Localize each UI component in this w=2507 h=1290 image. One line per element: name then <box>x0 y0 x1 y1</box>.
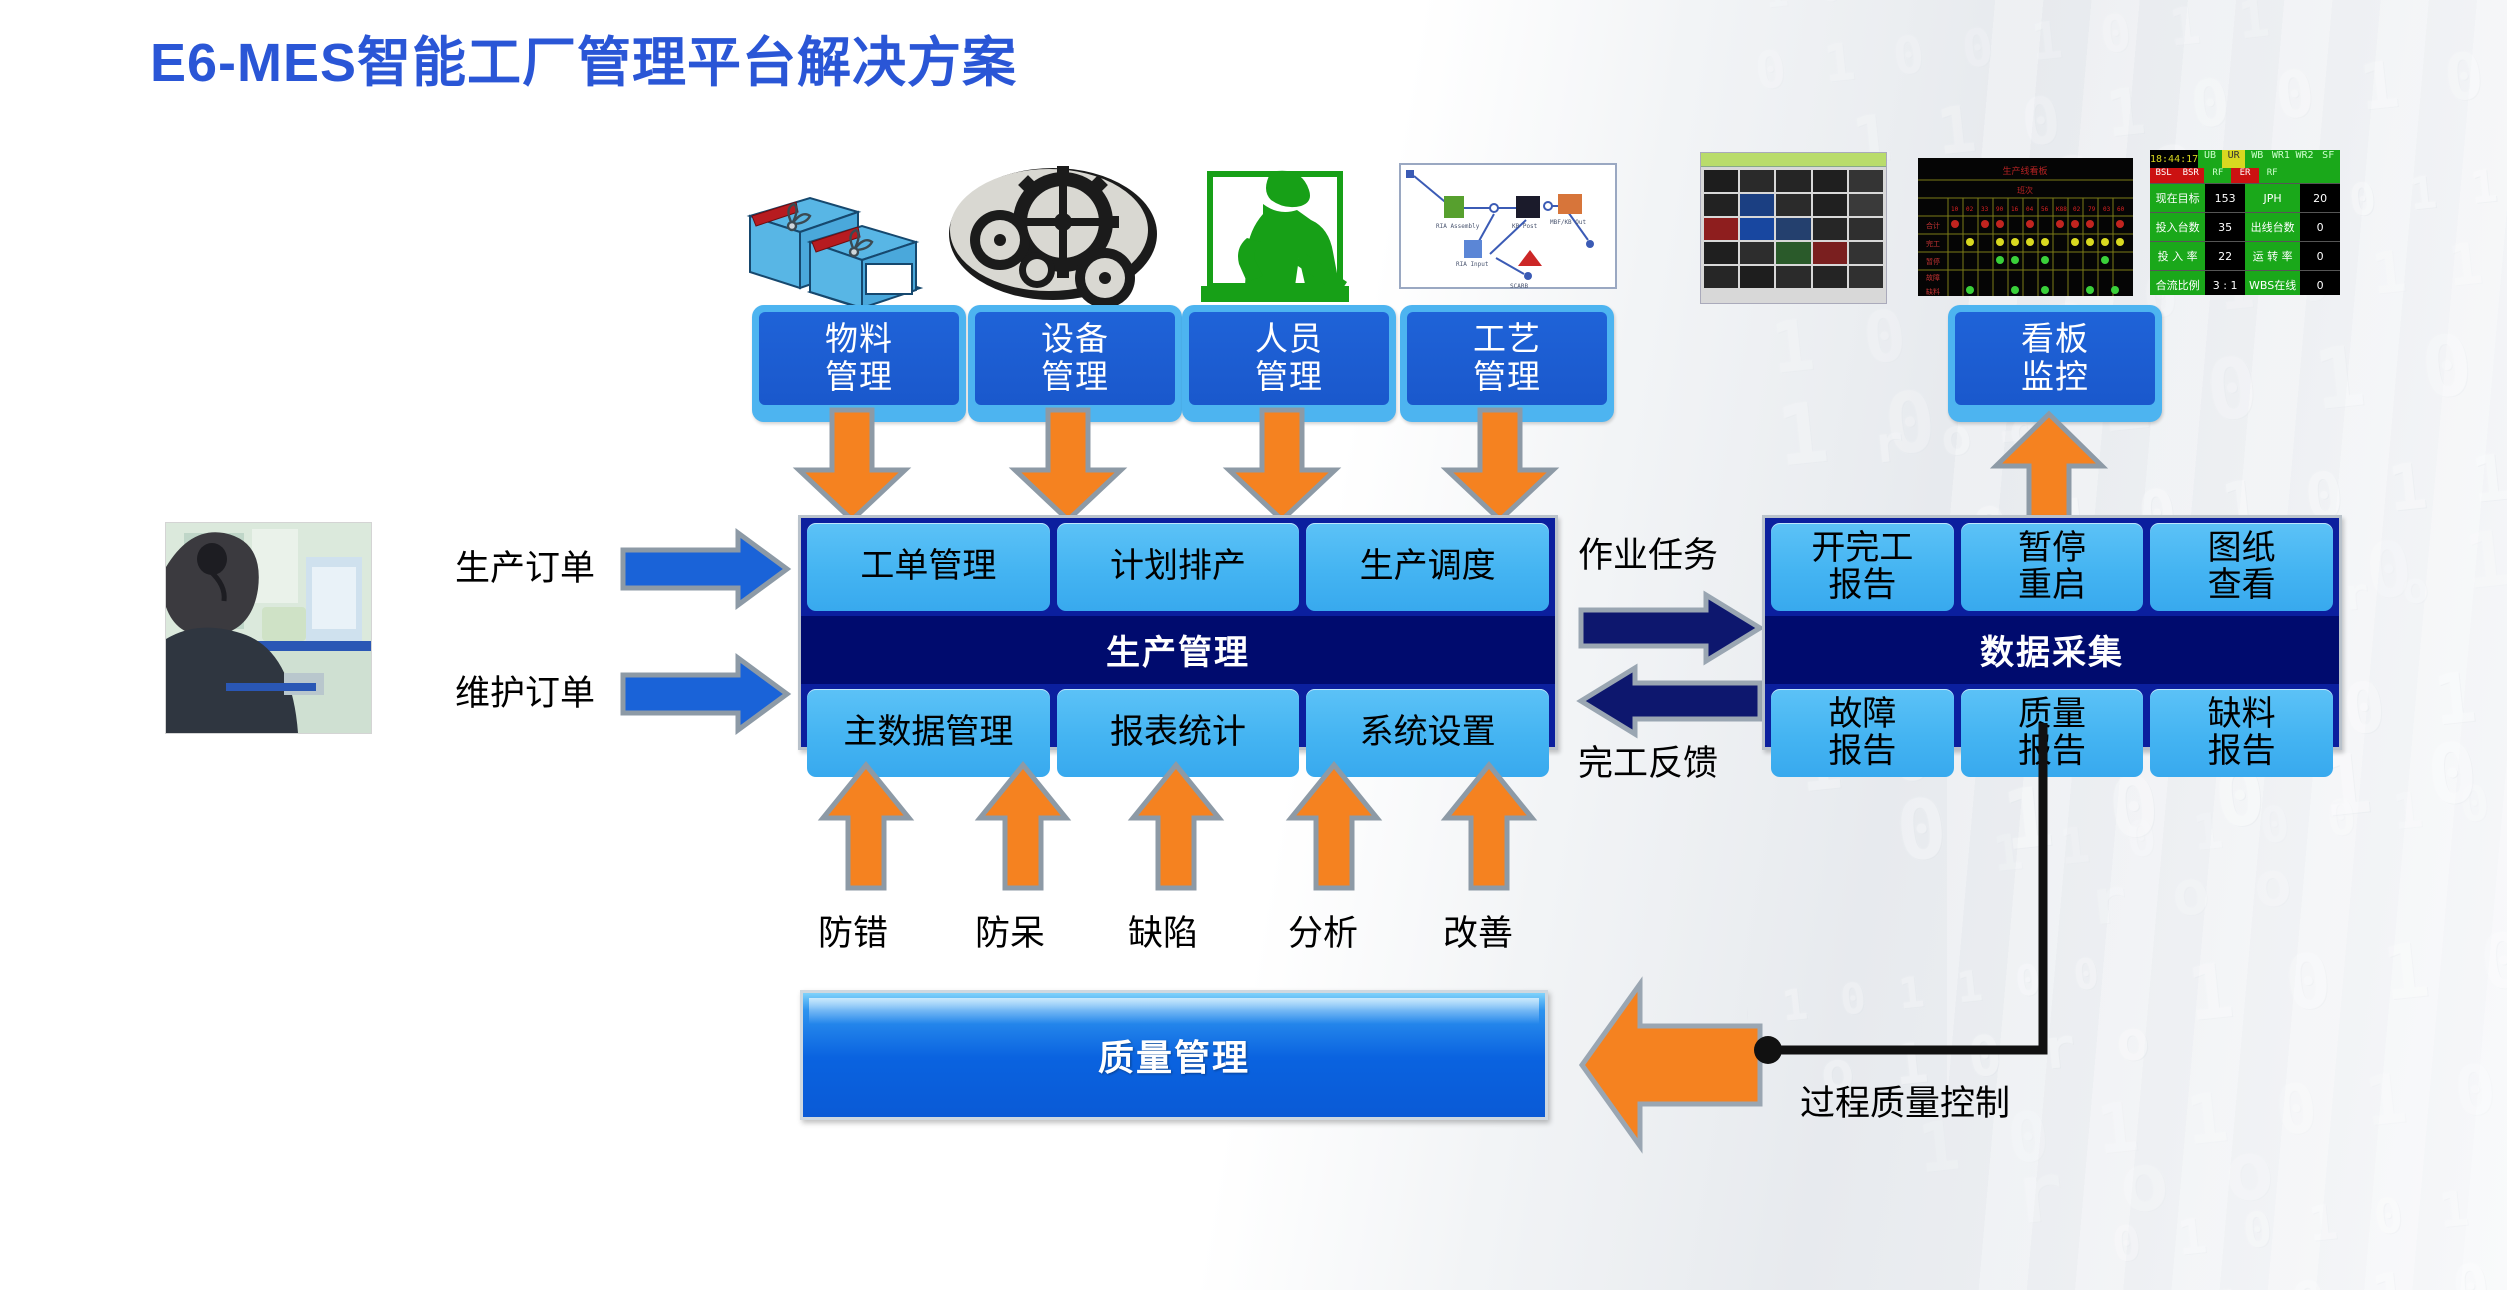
module-label-line1: 设备 <box>979 320 1171 358</box>
module-card-kanban[interactable]: 看板 监控 <box>1948 305 2162 422</box>
module-label-line2: 管理 <box>1411 358 1603 396</box>
cell-work-order[interactable]: 工单管理 <box>807 523 1050 611</box>
driver-label-1: 防呆 <box>975 905 1045 956</box>
module-card-equipment-label: 设备 管理 <box>975 312 1175 405</box>
watermark-digit-line: o r o r o <box>1747 1281 2185 1290</box>
gears-icon <box>945 160 1160 305</box>
data-band-label: 数据采集 <box>1765 616 2339 684</box>
module-label-line2: 管理 <box>1193 358 1385 396</box>
kpi-dashboard-monitor: 18:44:17 UB UR WB WR1 WR2 SF BSL BSR RF … <box>2150 150 2340 295</box>
down-arrow-equipment <box>1011 408 1125 522</box>
packages-icon <box>740 168 930 308</box>
kpi-label-right: WBS在线 <box>2245 271 2300 295</box>
svg-text:10: 10 <box>1951 206 1959 213</box>
module-label-line1: 物料 <box>763 320 955 358</box>
kpi-value-left: 35 <box>2205 213 2245 241</box>
kpi-row: 合流比例3 : 1WBS在线0 <box>2150 270 2340 295</box>
up-arrow-driver-2 <box>1130 762 1222 892</box>
module-card-material[interactable]: 物料 管理 <box>752 305 966 422</box>
svg-text:班次: 班次 <box>2017 185 2033 195</box>
driver-label-0: 防错 <box>818 905 888 956</box>
cell-pause-restart[interactable]: 暂停 重启 <box>1961 523 2144 611</box>
kpi-clock: 18:44:17 <box>2150 150 2198 168</box>
kpi-label-left: 投 入 率 <box>2150 242 2205 270</box>
exchange-label-task: 作业任务 <box>1578 527 1718 578</box>
svg-text:60: 60 <box>2117 206 2125 213</box>
module-card-process[interactable]: 工艺 管理 <box>1400 305 1614 422</box>
up-arrow-driver-4 <box>1443 762 1535 892</box>
cell-line2: 查看 <box>2208 567 2276 604</box>
down-arrow-material <box>795 408 909 522</box>
kpi-row: 投 入 率22运 转 率0 <box>2150 241 2340 270</box>
right-arrow-task <box>1578 592 1763 664</box>
kpi-value-right: 20 <box>2300 184 2340 212</box>
svg-text:RIA Assembly: RIA Assembly <box>1436 223 1480 230</box>
operator-photo <box>165 522 372 734</box>
kpi-value-right: 0 <box>2300 271 2340 295</box>
svg-text:02: 02 <box>1966 206 1974 213</box>
module-label-line1: 工艺 <box>1411 320 1603 358</box>
svg-text:完工: 完工 <box>1926 239 1940 248</box>
cell-shortage-report[interactable]: 缺料 报告 <box>2150 689 2333 777</box>
cell-plan-schedule[interactable]: 计划排产 <box>1057 523 1300 611</box>
module-label-line2: 管理 <box>763 358 955 396</box>
order-label-production: 生产订单 <box>455 540 595 591</box>
cell-line1: 暂停 <box>2018 530 2086 567</box>
right-arrow-production-order <box>620 530 790 608</box>
cell-production-dispatch[interactable]: 生产调度 <box>1306 523 1549 611</box>
svg-text:16: 16 <box>2011 206 2019 213</box>
module-label-line1: 看板 <box>1959 320 2151 358</box>
module-label-line2: 管理 <box>979 358 1171 396</box>
production-band-label: 生产管理 <box>801 616 1555 684</box>
driver-label-4: 改善 <box>1443 905 1513 956</box>
svg-text:生产线看板: 生产线看板 <box>2002 165 2047 177</box>
svg-text:KB Post: KB Post <box>1512 223 1538 230</box>
led-matrix-monitor: 生产线看板 班次 合计完工暂停 故障缺料 10023390 160456K88 … <box>1918 158 2133 296</box>
svg-text:02: 02 <box>2073 206 2081 213</box>
cell-line1: 图纸 <box>2208 530 2276 567</box>
data-collection-panel: 开完工 报告 暂停 重启 图纸 查看 数据采集 故障 报告 质量 <box>1762 515 2342 750</box>
module-card-equipment[interactable]: 设备 管理 <box>968 305 1182 422</box>
module-card-material-label: 物料 管理 <box>759 312 959 405</box>
svg-text:03: 03 <box>2103 206 2111 213</box>
module-card-personnel-label: 人员 管理 <box>1189 312 1389 405</box>
process-flow-icon: RIA Assembly KB Post MBF/KB Out RIA Inpu… <box>1398 162 1618 297</box>
kpi-label-right: 出线台数 <box>2245 213 2300 241</box>
kpi-label-right: 运 转 率 <box>2245 242 2300 270</box>
process-quality-control-label: 过程质量控制 <box>1800 1075 2010 1126</box>
kpi-label-left: 现在目标 <box>2150 184 2205 212</box>
kpi-label-right: JPH <box>2245 184 2300 212</box>
svg-text:合计: 合计 <box>1926 221 1940 230</box>
kpi-value-right: 0 <box>2300 213 2340 241</box>
vehicle-list-monitor <box>1700 152 1887 304</box>
page-title: E6-MES智能工厂管理平台解决方案 <box>150 18 1017 97</box>
down-arrow-personnel <box>1225 408 1339 522</box>
up-arrow-driver-0 <box>820 762 912 892</box>
kpi-value-right: 0 <box>2300 242 2340 270</box>
kpi-value-left: 3 : 1 <box>2205 271 2245 295</box>
svg-text:56: 56 <box>2041 206 2049 213</box>
data-top-row: 开完工 报告 暂停 重启 图纸 查看 <box>1765 518 2339 616</box>
up-arrow-driver-1 <box>977 762 1069 892</box>
cell-line1: 缺料 <box>2208 696 2276 733</box>
svg-text:33: 33 <box>1981 206 1989 213</box>
svg-text:79: 79 <box>2088 206 2096 213</box>
down-arrow-process <box>1443 408 1557 522</box>
module-label-line1: 人员 <box>1193 320 1385 358</box>
kpi-label-left: 投入台数 <box>2150 213 2205 241</box>
up-arrow-kanban <box>1992 410 2106 530</box>
svg-text:暂停: 暂停 <box>1926 257 1940 266</box>
module-label-line2: 监控 <box>1959 358 2151 396</box>
module-card-process-label: 工艺 管理 <box>1407 312 1607 405</box>
cell-line2: 报告 <box>1811 567 1913 604</box>
svg-text:RIA Input: RIA Input <box>1456 261 1489 268</box>
cell-drawing-view[interactable]: 图纸 查看 <box>2150 523 2333 611</box>
cell-start-finish-report[interactable]: 开完工 报告 <box>1771 523 1954 611</box>
svg-text:MBF/KB Out: MBF/KB Out <box>1550 219 1587 226</box>
process-quality-connector <box>1700 720 2120 1120</box>
cell-line1: 开完工 <box>1811 530 1913 567</box>
exchange-label-feedback: 完工反馈 <box>1578 735 1718 786</box>
kpi-row: 投入台数35出线台数0 <box>2150 212 2340 241</box>
svg-text:缺料: 缺料 <box>1926 287 1940 296</box>
kpi-value-left: 153 <box>2205 184 2245 212</box>
cell-line2: 报告 <box>2208 733 2276 770</box>
svg-text:K88: K88 <box>2056 206 2067 213</box>
svg-text:90: 90 <box>1996 206 2004 213</box>
kpi-label-left: 合流比例 <box>2150 271 2205 295</box>
driver-label-3: 分析 <box>1288 905 1358 956</box>
right-arrow-maintenance-order <box>620 655 790 733</box>
quality-management-bar[interactable]: 质量管理 <box>800 990 1548 1120</box>
cell-line2: 重启 <box>2018 567 2086 604</box>
order-label-maintenance: 维护订单 <box>455 665 595 716</box>
driver-label-2: 缺陷 <box>1128 905 1198 956</box>
module-card-kanban-label: 看板 监控 <box>1955 312 2155 405</box>
svg-text:04: 04 <box>2026 206 2034 213</box>
svg-text:故障: 故障 <box>1926 273 1940 282</box>
worker-icon <box>1185 160 1365 302</box>
production-top-row: 工单管理 计划排产 生产调度 <box>801 518 1555 616</box>
kpi-row: 现在目标153JPH20 <box>2150 183 2340 212</box>
production-management-panel: 工单管理 计划排产 生产调度 生产管理 主数据管理 报表统计 系统设置 <box>798 515 1558 750</box>
module-card-personnel[interactable]: 人员 管理 <box>1182 305 1396 422</box>
quality-management-label: 质量管理 <box>1098 1029 1250 1081</box>
kpi-value-left: 22 <box>2205 242 2245 270</box>
svg-text:SCARB: SCARB <box>1510 283 1528 290</box>
up-arrow-driver-3 <box>1288 762 1380 892</box>
